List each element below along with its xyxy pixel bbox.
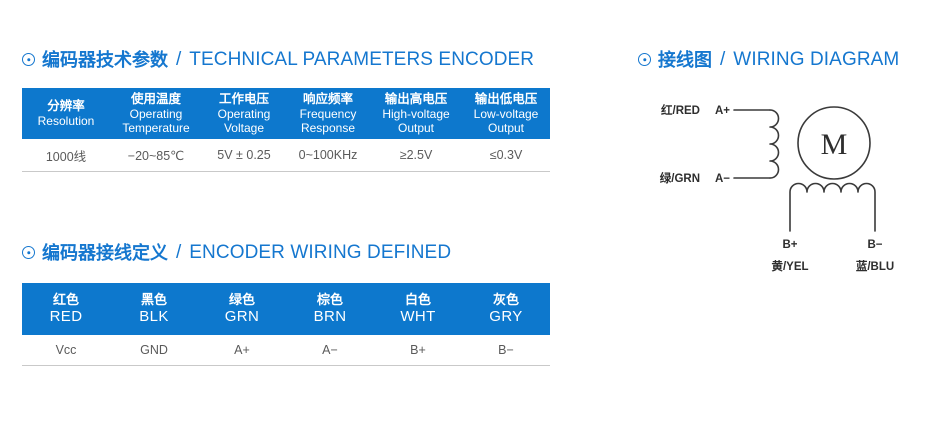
circle-dot-icon [22,53,35,66]
column-header-low-voltage-output: 输出低电压 Low-voltage Output [462,88,550,139]
column-header-resolution: 分辨率 Resolution [22,88,110,139]
encoder-wiring-table: 红色 RED 黑色 BLK 绿色 GRN 棕色 BRN 白色 WHT [22,283,550,366]
cell-blk-signal: GND [110,335,198,366]
encoder-wiring-table-container: 红色 RED 黑色 BLK 绿色 GRN 棕色 BRN 白色 WHT [22,283,550,366]
section-title-separator: / [176,243,181,262]
column-header-wht: 白色 WHT [374,283,462,335]
column-header-cn: 输出高电压 [370,92,462,107]
section-title-separator: / [176,50,181,69]
table-header-row: 红色 RED 黑色 BLK 绿色 GRN 棕色 BRN 白色 WHT [22,283,550,335]
table-row: Vcc GND A+ A− B+ B− [22,335,550,366]
cell-operating-voltage-value: 5V ± 0.25 [202,139,286,172]
column-header-operating-temperature: 使用温度 Operating Temperature [110,88,202,139]
section-title-en: TECHNICAL PARAMETERS ENCODER [189,50,534,69]
section-title-en: ENCODER WIRING DEFINED [189,243,451,262]
label-blu-wire: 蓝/BLU [856,259,894,273]
section-title-separator: / [720,50,725,69]
section-title-cn: 接线图 [658,51,712,69]
cell-operating-temperature-value: −20~85℃ [110,139,202,172]
column-header-brn: 棕色 BRN [286,283,374,335]
cell-resolution-value: 1000线 [22,139,110,172]
column-header-en: High-voltage Output [370,107,462,135]
cell-low-voltage-output-value: ≤0.3V [462,139,550,172]
column-header-en: Frequency Response [286,107,370,135]
column-header-gry: 灰色 GRY [462,283,550,335]
label-b-minus: B− [867,239,882,251]
cell-grn-signal: A+ [198,335,286,366]
column-header-en: RED [22,308,110,326]
column-header-cn: 白色 [374,292,462,307]
column-header-en: Operating Temperature [110,107,202,135]
column-header-cn: 输出低电压 [462,92,550,107]
cell-brn-signal: A− [286,335,374,366]
section-heading-wiring-diagram: 接线图 / WIRING DIAGRAM [638,50,899,69]
cell-gry-signal: B− [462,335,550,366]
cell-red-signal: Vcc [22,335,110,366]
column-header-cn: 绿色 [198,292,286,307]
section-title-cn: 编码器技术参数 [42,51,168,69]
section-title-en: WIRING DIAGRAM [733,50,899,69]
table-row: 1000线 −20~85℃ 5V ± 0.25 0~100KHz ≥2.5V ≤… [22,139,550,172]
label-red-wire: 红/RED [661,103,700,117]
section-heading-encoder-wiring-defined: 编码器接线定义 / ENCODER WIRING DEFINED [22,243,451,262]
column-header-en: WHT [374,308,462,326]
column-header-cn: 棕色 [286,292,374,307]
column-header-high-voltage-output: 输出高电压 High-voltage Output [370,88,462,139]
column-header-cn: 黑色 [110,292,198,307]
label-yel-wire: 黄/YEL [771,259,808,273]
motor-symbol-label: M [821,128,848,161]
column-header-cn: 分辨率 [22,99,110,114]
column-header-cn: 灰色 [462,292,550,307]
column-header-en: BRN [286,308,374,326]
coil-phase-b [790,184,875,232]
column-header-en: Resolution [22,114,110,128]
column-header-en: BLK [110,308,198,326]
label-grn-wire: 绿/GRN [660,171,700,185]
circle-dot-icon [638,53,651,66]
column-header-operating-voltage: 工作电压 Operating Voltage [202,88,286,139]
label-b-plus: B+ [782,239,797,251]
coil-phase-a [770,110,779,178]
wiring-diagram-figure: M 红/RED A+ 绿/GRN A− B+ B− 黄/YEL 蓝/BLU [638,86,938,276]
column-header-cn: 使用温度 [110,92,202,107]
cell-high-voltage-output-value: ≥2.5V [370,139,462,172]
section-heading-technical-parameters: 编码器技术参数 / TECHNICAL PARAMETERS ENCODER [22,50,534,69]
cell-wht-signal: B+ [374,335,462,366]
technical-parameters-table: 分辨率 Resolution 使用温度 Operating Temperatur… [22,88,550,172]
table-header-row: 分辨率 Resolution 使用温度 Operating Temperatur… [22,88,550,139]
circle-dot-icon [22,246,35,259]
wiring-diagram-svg: M 红/RED A+ 绿/GRN A− B+ B− 黄/YEL 蓝/BLU [638,86,938,276]
label-a-minus: A− [715,173,730,185]
label-a-plus: A+ [715,105,730,117]
column-header-cn: 工作电压 [202,92,286,107]
column-header-en: Low-voltage Output [462,107,550,135]
technical-parameters-table-container: 分辨率 Resolution 使用温度 Operating Temperatur… [22,88,550,172]
column-header-en: GRY [462,308,550,326]
column-header-en: Operating Voltage [202,107,286,135]
section-title-cn: 编码器接线定义 [42,244,168,262]
column-header-red: 红色 RED [22,283,110,335]
cell-frequency-response-value: 0~100KHz [286,139,370,172]
column-header-cn: 红色 [22,292,110,307]
column-header-cn: 响应频率 [286,92,370,107]
column-header-frequency-response: 响应频率 Frequency Response [286,88,370,139]
column-header-grn: 绿色 GRN [198,283,286,335]
column-header-blk: 黑色 BLK [110,283,198,335]
column-header-en: GRN [198,308,286,326]
